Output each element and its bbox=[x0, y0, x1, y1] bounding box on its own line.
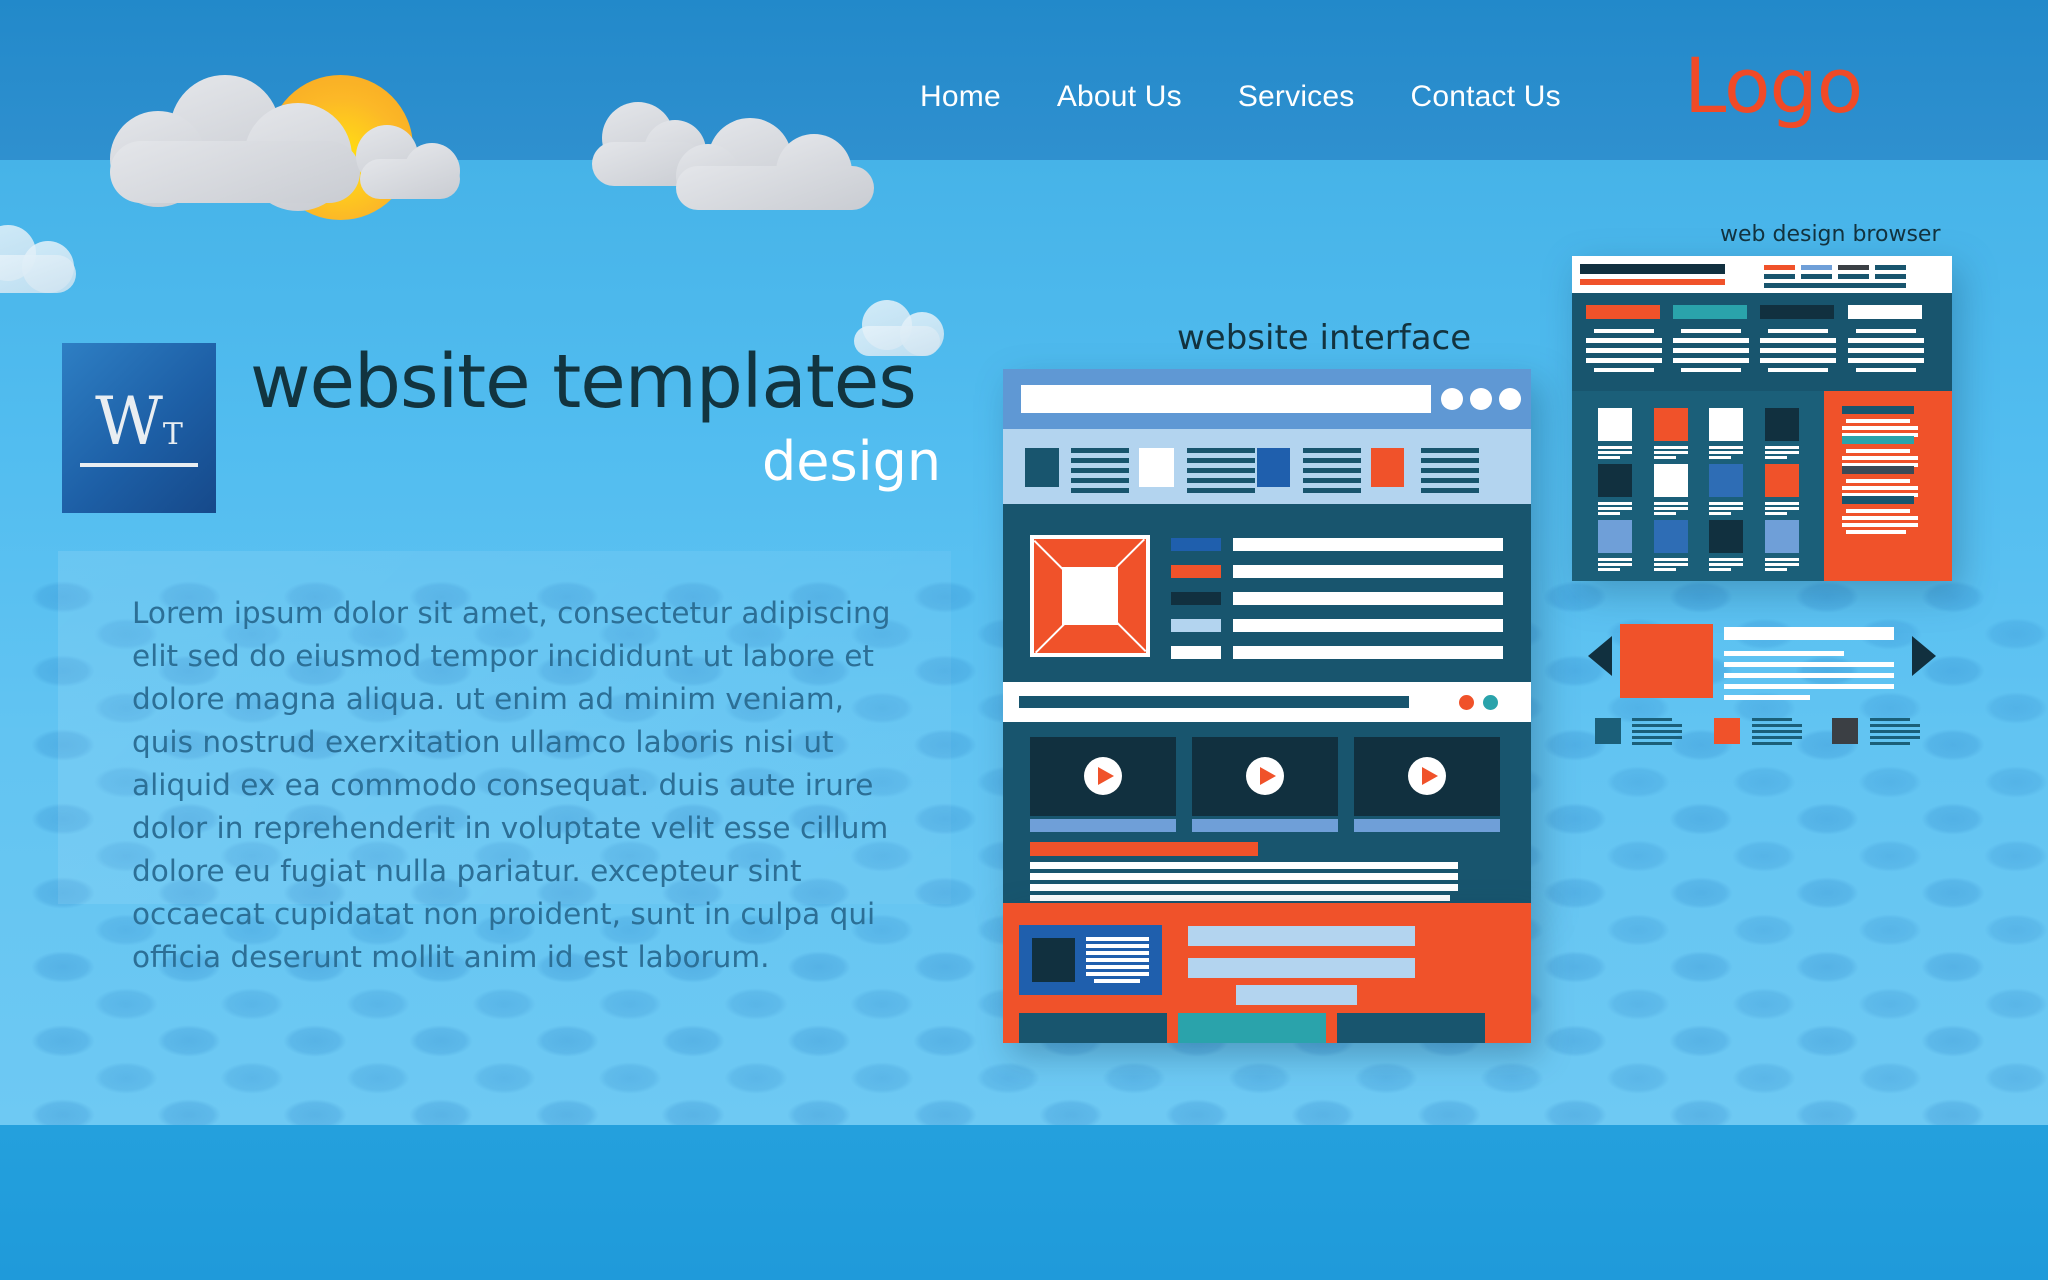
carousel-feature-line-5 bbox=[1724, 695, 1810, 700]
panel-swatch-3-1[interactable] bbox=[1598, 520, 1632, 553]
panel-swatch-grid bbox=[1572, 391, 1952, 581]
panel-tab-1-label bbox=[1764, 274, 1795, 279]
mockup-row-line-3 bbox=[1233, 592, 1503, 605]
mockup-hero-image[interactable] bbox=[1030, 535, 1150, 657]
panel-sidebar-heading-1 bbox=[1842, 406, 1914, 414]
panel-card-3-swatch[interactable] bbox=[1760, 305, 1834, 319]
panel-header-title bbox=[1580, 264, 1725, 274]
panel-header bbox=[1572, 256, 1952, 293]
panel-card-4-swatch[interactable] bbox=[1848, 305, 1922, 319]
mockup-footer-field-2[interactable] bbox=[1188, 958, 1415, 978]
mockup-row-line-1 bbox=[1233, 538, 1503, 551]
nav-links: Home About Us Services Contact Us bbox=[920, 80, 1561, 114]
panel-swatch-2-4[interactable] bbox=[1765, 464, 1799, 497]
mockup-footer-button-2[interactable] bbox=[1178, 1013, 1326, 1043]
panel-sidebar-heading-4 bbox=[1842, 496, 1914, 504]
panel-tab-3-accent[interactable] bbox=[1838, 265, 1869, 270]
panel-tab-2-label bbox=[1801, 274, 1832, 279]
top-navigation: Home About Us Services Contact Us Logo bbox=[0, 0, 2048, 160]
mockup-section-heading bbox=[1030, 842, 1258, 856]
mockup-video-thumb-1[interactable] bbox=[1030, 737, 1176, 816]
mockup-row-line-2 bbox=[1233, 565, 1503, 578]
mockup-video-section bbox=[1003, 722, 1531, 904]
mockup-nav-block-2[interactable] bbox=[1139, 448, 1174, 487]
panel-swatch-1-3[interactable] bbox=[1709, 408, 1743, 441]
website-interface-mockup[interactable] bbox=[1003, 369, 1531, 904]
panel-tab-1-accent[interactable] bbox=[1764, 265, 1795, 270]
mockup-footer-lines bbox=[1086, 937, 1149, 990]
web-design-browser-panel[interactable] bbox=[1572, 256, 1952, 581]
page-subtitle: design bbox=[762, 435, 941, 489]
mockup-footer-card[interactable] bbox=[1003, 903, 1531, 1043]
page-title: website templates bbox=[250, 345, 916, 419]
panel-swatch-3-4-caption bbox=[1765, 558, 1799, 576]
carousel-feature-line-4 bbox=[1724, 684, 1894, 689]
panel-swatch-2-1-caption bbox=[1598, 502, 1632, 520]
panel-swatch-3-1-caption bbox=[1598, 558, 1632, 576]
lorem-paragraph: Lorem ipsum dolor sit amet, consectetur … bbox=[132, 592, 902, 979]
wt-badge-inner: WT bbox=[80, 389, 198, 467]
mockup-video-caption-3 bbox=[1354, 819, 1500, 832]
panel-card-3-lines bbox=[1760, 329, 1836, 377]
carousel-thumb-1[interactable] bbox=[1595, 718, 1621, 744]
panel-card-2-lines bbox=[1673, 329, 1749, 377]
play-icon[interactable] bbox=[1246, 757, 1284, 795]
mockup-row-line-4 bbox=[1233, 619, 1503, 632]
panel-header-underline bbox=[1764, 283, 1906, 288]
mockup-footer-feature[interactable] bbox=[1019, 925, 1162, 995]
carousel-thumb-3-lines bbox=[1870, 718, 1920, 750]
panel-swatch-2-3-caption bbox=[1709, 502, 1743, 520]
mockup-footer-thumb bbox=[1032, 938, 1075, 982]
panel-swatch-2-2-caption bbox=[1654, 502, 1688, 520]
mockup-body-line-3 bbox=[1030, 884, 1458, 891]
mockup-row-tag-1 bbox=[1171, 538, 1221, 551]
panel-swatch-1-3-caption bbox=[1709, 446, 1743, 464]
carousel-next-icon[interactable] bbox=[1912, 636, 1936, 676]
panel-card-row bbox=[1572, 293, 1952, 391]
mockup-body-line-1 bbox=[1030, 862, 1458, 869]
nav-item-home[interactable]: Home bbox=[920, 80, 1001, 114]
mockup-nav-block-3[interactable] bbox=[1257, 448, 1290, 487]
panel-tab-2-accent[interactable] bbox=[1801, 265, 1832, 270]
mockup-footer-field-1[interactable] bbox=[1188, 926, 1415, 946]
carousel-thumb-2-lines bbox=[1752, 718, 1802, 750]
mockup-nav-lines-1 bbox=[1071, 448, 1129, 498]
mockup-row-tag-2 bbox=[1171, 565, 1221, 578]
panel-orange-sidebar[interactable] bbox=[1824, 391, 1952, 581]
label-web-design-browser: web design browser bbox=[1720, 222, 1940, 247]
mockup-status-dot-orange[interactable] bbox=[1459, 695, 1474, 710]
panel-swatch-1-2-caption bbox=[1654, 446, 1688, 464]
panel-swatch-3-2[interactable] bbox=[1654, 520, 1688, 553]
wt-badge-w: W bbox=[95, 383, 163, 460]
play-icon[interactable] bbox=[1408, 757, 1446, 795]
mockup-url-bar[interactable] bbox=[1021, 385, 1431, 413]
panel-swatch-2-1[interactable] bbox=[1598, 464, 1632, 497]
sky-bottom-band bbox=[0, 1125, 2048, 1280]
panel-swatch-2-3[interactable] bbox=[1709, 464, 1743, 497]
carousel-thumb-3[interactable] bbox=[1832, 718, 1858, 744]
wt-badge: WT bbox=[62, 343, 216, 513]
mockup-video-caption-2 bbox=[1192, 819, 1338, 832]
site-logo[interactable]: Logo bbox=[1684, 48, 1862, 124]
cloud-far-left bbox=[0, 225, 104, 295]
panel-carousel[interactable] bbox=[1572, 604, 1952, 754]
mockup-footer-button-3[interactable] bbox=[1337, 1013, 1485, 1043]
carousel-thumb-2[interactable] bbox=[1714, 718, 1740, 744]
carousel-prev-icon[interactable] bbox=[1588, 636, 1612, 676]
mockup-nav-block-1[interactable] bbox=[1025, 448, 1059, 487]
mockup-search-strip bbox=[1003, 682, 1531, 722]
carousel-feature-line-1 bbox=[1724, 651, 1844, 656]
nav-item-contact-us[interactable]: Contact Us bbox=[1410, 80, 1560, 114]
panel-sidebar-heading-3 bbox=[1842, 466, 1914, 474]
panel-swatch-1-4[interactable] bbox=[1765, 408, 1799, 441]
panel-swatch-1-1[interactable] bbox=[1598, 408, 1632, 441]
mockup-footer-button-1[interactable] bbox=[1019, 1013, 1167, 1043]
carousel-feature-line-2 bbox=[1724, 662, 1894, 667]
panel-swatch-2-2[interactable] bbox=[1654, 464, 1688, 497]
mockup-status-dot-teal[interactable] bbox=[1483, 695, 1498, 710]
nav-item-about-us[interactable]: About Us bbox=[1057, 80, 1182, 114]
mockup-nav-lines-3 bbox=[1303, 448, 1361, 498]
panel-swatch-1-4-caption bbox=[1765, 446, 1799, 464]
label-website-interface: website interface bbox=[1177, 318, 1471, 358]
mockup-video-thumb-2[interactable] bbox=[1192, 737, 1338, 816]
panel-swatch-3-3[interactable] bbox=[1709, 520, 1743, 553]
mockup-video-thumb-3[interactable] bbox=[1354, 737, 1500, 816]
panel-card-4-lines bbox=[1848, 329, 1924, 377]
panel-swatch-3-4[interactable] bbox=[1765, 520, 1799, 553]
mockup-window-dot-3[interactable] bbox=[1499, 388, 1521, 410]
mockup-video-caption-1 bbox=[1030, 819, 1176, 832]
panel-swatch-2-4-caption bbox=[1765, 502, 1799, 520]
page-background: Home About Us Services Contact Us Logo W… bbox=[0, 0, 2048, 1280]
panel-tab-4-accent[interactable] bbox=[1875, 265, 1906, 270]
mockup-row-tag-5 bbox=[1171, 646, 1221, 659]
panel-sidebar-heading-2 bbox=[1842, 436, 1914, 444]
mockup-row-line-5 bbox=[1233, 646, 1503, 659]
mockup-nav-lines-2 bbox=[1187, 448, 1255, 498]
mockup-footer-submit[interactable] bbox=[1236, 985, 1357, 1005]
mockup-window-dot-2[interactable] bbox=[1470, 388, 1492, 410]
panel-swatch-3-2-caption bbox=[1654, 558, 1688, 576]
mockup-nav-strip bbox=[1003, 429, 1531, 504]
panel-swatch-3-3-caption bbox=[1709, 558, 1743, 576]
carousel-feature-image[interactable] bbox=[1620, 624, 1713, 698]
mockup-body-line-4 bbox=[1030, 895, 1450, 901]
mockup-row-tag-3 bbox=[1171, 592, 1221, 605]
carousel-thumb-1-lines bbox=[1632, 718, 1682, 750]
panel-header-accent bbox=[1580, 279, 1725, 285]
panel-swatch-1-1-caption bbox=[1598, 446, 1632, 464]
panel-sidebar-lines-4 bbox=[1842, 509, 1918, 537]
nav-item-services[interactable]: Services bbox=[1238, 80, 1355, 114]
mockup-nav-lines-4 bbox=[1421, 448, 1479, 498]
panel-card-1-swatch[interactable] bbox=[1586, 305, 1660, 319]
mockup-search-field[interactable] bbox=[1019, 696, 1409, 708]
wt-badge-rule bbox=[80, 463, 198, 467]
mockup-nav-block-4[interactable] bbox=[1371, 448, 1404, 487]
mockup-body-line-2 bbox=[1030, 873, 1458, 880]
mockup-browser-chrome bbox=[1003, 369, 1531, 429]
mockup-window-dot-1[interactable] bbox=[1441, 388, 1463, 410]
panel-card-1-lines bbox=[1586, 329, 1662, 377]
panel-tab-3-label bbox=[1838, 274, 1869, 279]
mockup-row-tag-4 bbox=[1171, 619, 1221, 632]
carousel-feature-title bbox=[1724, 627, 1894, 640]
carousel-feature-line-3 bbox=[1724, 673, 1894, 678]
panel-card-2-swatch[interactable] bbox=[1673, 305, 1747, 319]
panel-swatch-1-2[interactable] bbox=[1654, 408, 1688, 441]
wt-badge-t: T bbox=[163, 417, 183, 452]
mockup-article-body bbox=[1003, 504, 1531, 682]
panel-tab-4-label bbox=[1875, 274, 1906, 279]
mockup-hero-image-hole bbox=[1062, 567, 1118, 625]
play-icon[interactable] bbox=[1084, 757, 1122, 795]
